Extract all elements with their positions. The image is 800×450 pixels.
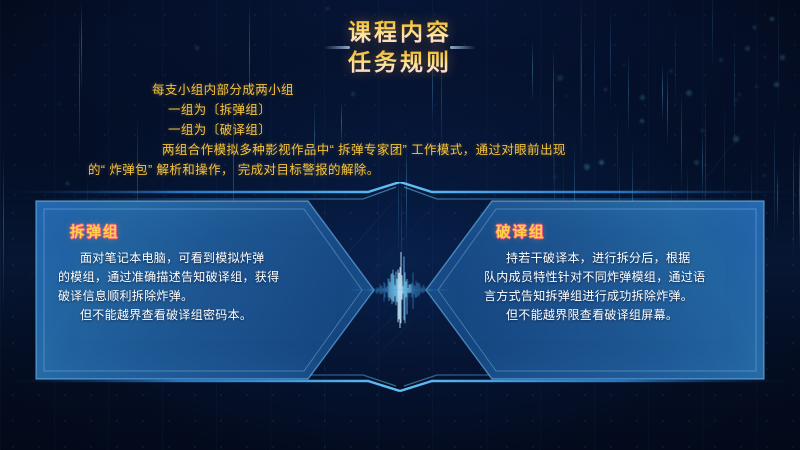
panel-bomb-squad-line-4: 但不能越界查看破译组密码本。 — [58, 306, 320, 325]
panel-bomb-squad-line-3: 破译信息顺利拆除炸弹。 — [58, 287, 320, 306]
page-title: 课程内容 — [0, 18, 800, 46]
panel-bomb-squad-line-1: 面对笔记本电脑，可看到模拟炸弹 — [58, 249, 320, 268]
panel-decoder-squad-body: 持若干破译本，进行拆分后，根据 队内成员特性针对不同炸弹模组，通过语 言方式告知… — [484, 249, 746, 325]
page-subtitle: 任务规则 — [0, 48, 800, 76]
intro-paragraph: 每支小组内部分成两小组 一组为〔拆弹组〕 一组为〔破译组〕 两组合作模拟多种影视… — [0, 80, 800, 180]
intro-line-4: 两组合作模拟多种影视作品中“ 拆弹专家团” 工作模式，通过对眼前出现 — [0, 140, 800, 160]
panel-bomb-squad-heading: 拆弹组 — [70, 221, 120, 242]
panel-decoder-squad-line-4: 但不能越界限查看破译组屏幕。 — [484, 306, 746, 325]
intro-line-3: 一组为〔破译组〕 — [0, 120, 800, 140]
intro-line-1: 每支小组内部分成两小组 — [0, 80, 800, 100]
audio-waveform-icon — [352, 252, 448, 328]
panel-decoder-squad-line-1: 持若干破译本，进行拆分后，根据 — [484, 249, 746, 268]
slide-canvas: 课程内容 任务规则 每支小组内部分成两小组 一组为〔拆弹组〕 一组为〔破译组〕 … — [0, 0, 800, 450]
panel-bomb-squad-line-2: 的模组，通过准确描述告知破译组，获得 — [58, 268, 320, 287]
slide-title-block: 课程内容 任务规则 — [0, 18, 800, 76]
intro-line-2: 一组为〔拆弹组〕 — [0, 100, 800, 120]
panel-decoder-squad-line-3: 言方式告知拆弹组进行成功拆除炸弹。 — [484, 287, 746, 306]
intro-line-5: 的“ 炸弹包” 解析和操作， 完成对目标警报的解除。 — [0, 160, 800, 180]
panel-bomb-squad[interactable]: 拆弹组 面对笔记本电脑，可看到模拟炸弹 的模组，通过准确描述告知破译组，获得 破… — [36, 201, 374, 379]
panel-decoder-squad-heading: 破译组 — [496, 221, 546, 242]
panel-bomb-squad-body: 面对笔记本电脑，可看到模拟炸弹 的模组，通过准确描述告知破译组，获得 破译信息顺… — [58, 249, 320, 325]
panel-decoder-squad-line-2: 队内成员特性针对不同炸弹模组，通过语 — [484, 268, 746, 287]
panel-decoder-squad[interactable]: 破译组 持若干破译本，进行拆分后，根据 队内成员特性针对不同炸弹模组，通过语 言… — [426, 201, 764, 379]
